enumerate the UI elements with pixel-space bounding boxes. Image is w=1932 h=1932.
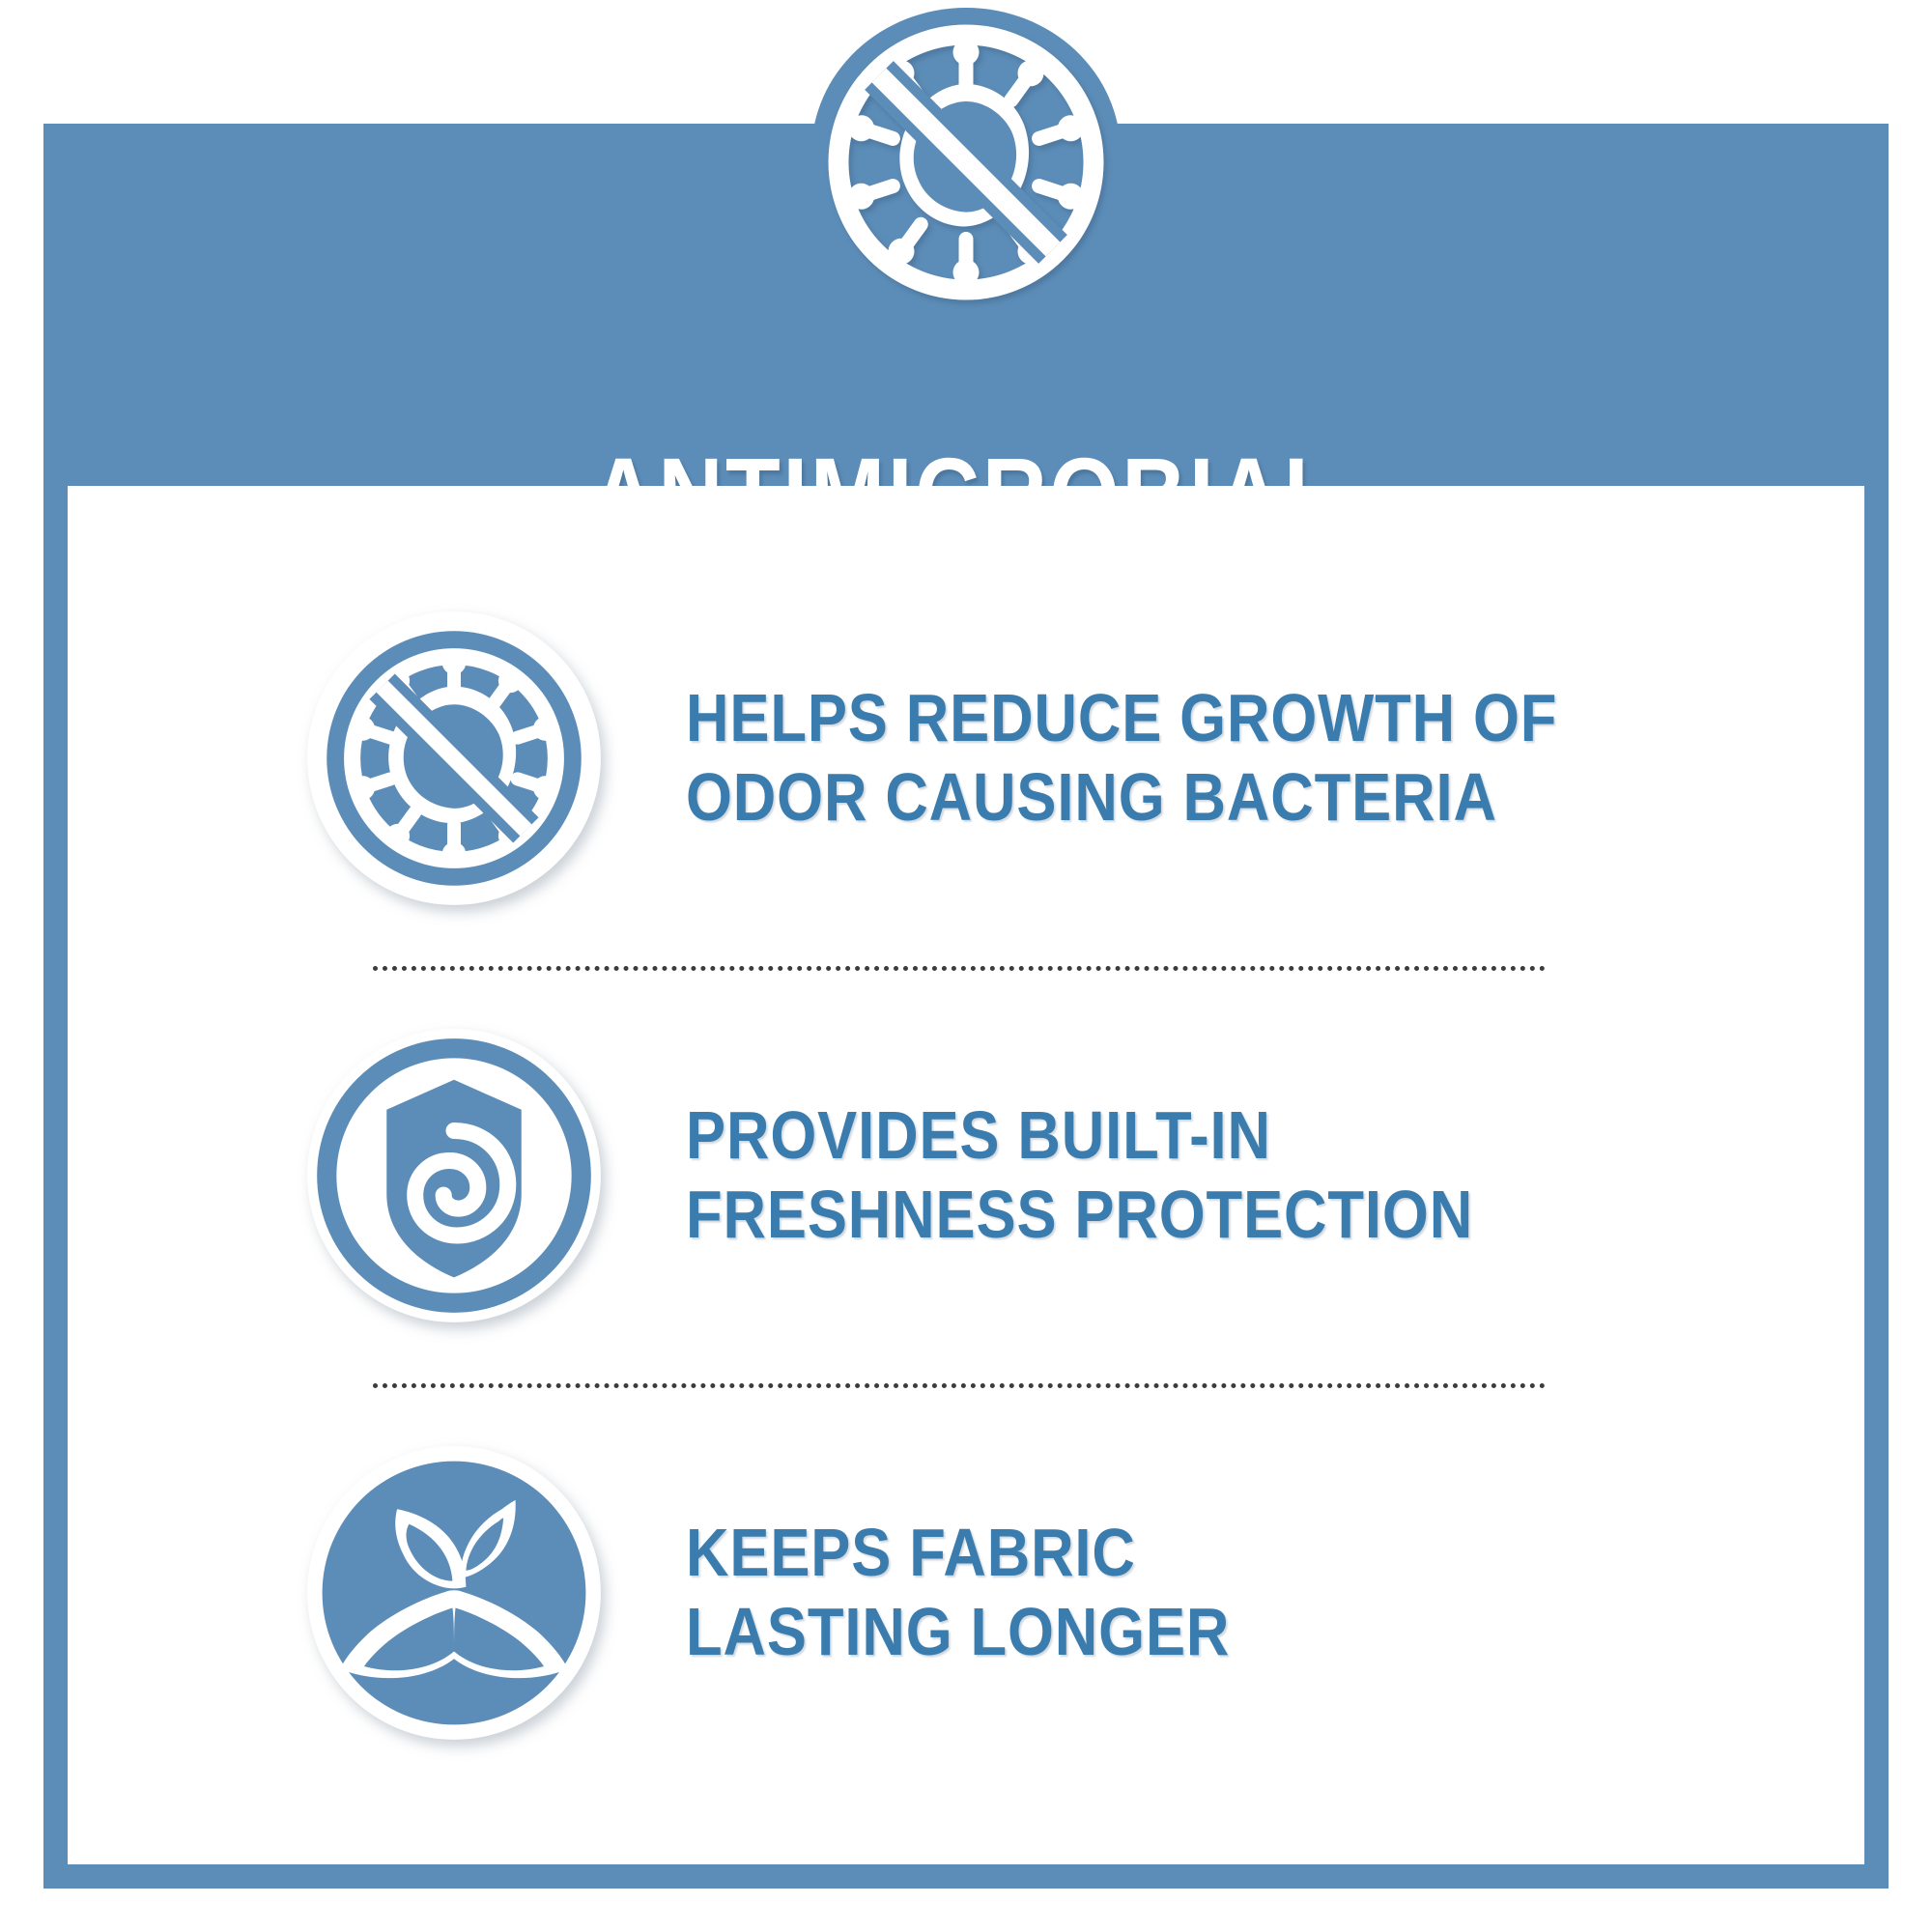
shield-swirl-badge-icon [304, 1026, 604, 1325]
features-list: HELPS REDUCE GROWTH OF ODOR CAUSING BACT… [68, 486, 1864, 1864]
feature-text: HELPS REDUCE GROWTH OF ODOR CAUSING BACT… [686, 679, 1557, 836]
feature-line-2: ODOR CAUSING BACTERIA [686, 758, 1557, 837]
no-germ-badge-icon [304, 609, 604, 908]
feature-line-1: HELPS REDUCE GROWTH OF [686, 679, 1557, 757]
feature-line-1: KEEPS FABRIC [686, 1514, 1230, 1592]
feature-line-2: FRESHNESS PROTECTION [686, 1176, 1473, 1254]
feature-line-1: PROVIDES BUILT-IN [686, 1096, 1473, 1175]
leaf-sprout-badge-icon [304, 1443, 604, 1743]
feature-text: KEEPS FABRIC LASTING LONGER [686, 1514, 1230, 1670]
feature-line-2: LASTING LONGER [686, 1593, 1230, 1671]
antimicrobial-infographic: ANTIMICROBIAL [0, 0, 1932, 1932]
feature-row: KEEPS FABRIC LASTING LONGER [68, 1385, 1864, 1801]
feature-row: HELPS REDUCE GROWTH OF ODOR CAUSING BACT… [68, 551, 1864, 966]
feature-text: PROVIDES BUILT-IN FRESHNESS PROTECTION [686, 1096, 1473, 1253]
no-germ-icon [821, 17, 1111, 307]
feature-row: PROVIDES BUILT-IN FRESHNESS PROTECTION [68, 968, 1864, 1383]
